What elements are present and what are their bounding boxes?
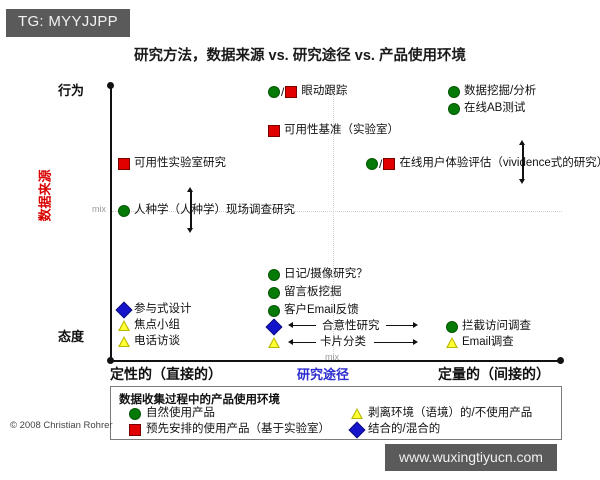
- data-point-label-wrap: 合意性研究: [322, 321, 380, 333]
- data-point: [268, 321, 280, 333]
- x-axis-mid-label: mix: [325, 352, 339, 362]
- triangle-marker-icon: [118, 320, 130, 331]
- left-arrow-icon: [288, 338, 316, 347]
- x-axis-title: 研究途径: [297, 364, 349, 383]
- data-point: [268, 337, 280, 348]
- x-axis-left-label: 定性的（直接的）: [110, 364, 222, 384]
- chart-title: 研究方法，数据来源 vs. 研究途径 vs. 产品使用环境: [0, 44, 600, 65]
- y-axis-title: 数据来源: [35, 169, 54, 221]
- legend-title: 数据收集过程中的产品使用环境: [119, 391, 280, 407]
- data-point-label: 人种学（人种学）现场调查研究: [134, 205, 295, 217]
- x-axis-right-cap: [557, 357, 564, 364]
- circle-marker-icon: [448, 103, 460, 115]
- data-point-label: 数据挖掘/分析: [464, 86, 536, 98]
- data-point-label: 客户Email反馈: [284, 305, 359, 317]
- data-point-label: 眼动跟踪: [301, 86, 347, 98]
- y-axis-bottom-label: 态度: [58, 326, 84, 345]
- circle-marker-icon: [448, 86, 460, 98]
- square-marker-icon: [129, 424, 141, 436]
- data-point-label: 电话访谈: [134, 336, 180, 348]
- data-point: 拦截访问调查: [446, 321, 531, 333]
- legend-item-label: 剥离环境（语境）的/不使用产品: [368, 408, 532, 420]
- chart-page: TG: MYYJJPP 研究方法，数据来源 vs. 研究途径 vs. 产品使用环…: [0, 0, 600, 480]
- legend-item: 预先安排的使用产品（基于实验室）: [129, 424, 330, 436]
- vertical-range-arrow-icon: [185, 187, 196, 233]
- data-point: 可用性基准（实验室）: [268, 125, 399, 137]
- y-axis-line: [110, 85, 112, 362]
- data-point: 可用性实验室研究: [118, 158, 226, 170]
- data-point-label: 合意性研究: [322, 321, 380, 333]
- data-point-label-wrap: 卡片分类: [320, 337, 366, 349]
- diamond-marker-icon: [116, 302, 133, 319]
- right-arrow-icon: [374, 338, 418, 347]
- data-point-label: Email调查: [462, 337, 514, 349]
- legend-item: 剥离环境（语境）的/不使用产品: [351, 408, 532, 420]
- data-point-label: 在线AB测试: [464, 103, 525, 115]
- square-marker-icon: [285, 86, 297, 98]
- data-point: 焦点小组: [118, 320, 180, 332]
- x-axis-right-label: 定量的（间接的）: [438, 364, 550, 384]
- slash-separator: /: [379, 158, 382, 170]
- data-point-label: 可用性实验室研究: [134, 158, 226, 170]
- circle-marker-icon: [446, 321, 458, 333]
- legend-box: 数据收集过程中的产品使用环境 自然使用产品 预先安排的使用产品（基于实验室） 剥…: [110, 386, 562, 440]
- data-point: 电话访谈: [118, 336, 180, 348]
- vertical-range-arrow-icon: [517, 140, 528, 184]
- diamond-marker-icon: [266, 319, 283, 336]
- legend-item-label: 结合的/混合的: [368, 424, 440, 436]
- left-arrow-icon: [288, 321, 316, 330]
- data-point: 参与式设计: [118, 304, 192, 316]
- circle-marker-icon: [129, 408, 141, 420]
- circle-marker-icon: [268, 269, 280, 281]
- right-arrow-icon: [386, 321, 418, 330]
- data-point: 数据挖掘/分析: [448, 86, 536, 98]
- square-marker-icon: [268, 125, 280, 137]
- circle-marker-icon: [268, 86, 280, 98]
- data-point-label: 在线用户体验评估（vividence式的研究）: [399, 158, 600, 170]
- data-point: 留言板挖掘: [268, 287, 342, 299]
- site-watermark: www.wuxingtiyucn.com: [385, 444, 557, 471]
- legend-item: 自然使用产品: [129, 408, 215, 420]
- data-point-label: 卡片分类: [320, 337, 366, 349]
- copyright-notice: © 2008 Christian Rohrer: [10, 420, 113, 431]
- slash-separator: /: [281, 86, 284, 98]
- triangle-marker-icon: [351, 408, 363, 419]
- diamond-marker-icon: [349, 422, 366, 439]
- data-point: Email调查: [446, 337, 514, 349]
- data-point-label: 焦点小组: [134, 320, 180, 332]
- legend-item-label: 自然使用产品: [146, 408, 215, 420]
- tg-tag-badge: TG: MYYJJPP: [6, 9, 130, 37]
- data-point: / 眼动跟踪: [268, 86, 347, 98]
- data-point-label: 留言板挖掘: [284, 287, 342, 299]
- triangle-marker-icon: [118, 336, 130, 347]
- data-point-label: 参与式设计: [134, 304, 192, 316]
- square-marker-icon: [118, 158, 130, 170]
- data-point: 人种学（人种学）现场调查研究: [118, 205, 295, 217]
- data-point: / 在线用户体验评估（vividence式的研究）: [366, 158, 600, 170]
- circle-marker-icon: [268, 305, 280, 317]
- y-axis-mid-label: mix: [92, 204, 106, 214]
- square-marker-icon: [383, 158, 395, 170]
- legend-item: 结合的/混合的: [351, 424, 440, 436]
- y-axis-top-label: 行为: [58, 80, 84, 99]
- data-point-label: 拦截访问调查: [462, 321, 531, 333]
- circle-marker-icon: [366, 158, 378, 170]
- legend-item-label: 预先安排的使用产品（基于实验室）: [146, 424, 330, 436]
- triangle-marker-icon: [446, 337, 458, 348]
- data-point: 客户Email反馈: [268, 305, 359, 317]
- y-axis-bottom-cap: [107, 357, 114, 364]
- data-point-label: 可用性基准（实验室）: [284, 125, 399, 137]
- data-point-label: 日记/摄像研究？: [284, 269, 368, 281]
- y-axis-top-cap: [107, 82, 114, 89]
- triangle-marker-icon: [268, 337, 280, 348]
- data-point: 日记/摄像研究？: [268, 269, 368, 281]
- data-point: 在线AB测试: [448, 103, 525, 115]
- circle-marker-icon: [118, 205, 130, 217]
- circle-marker-icon: [268, 287, 280, 299]
